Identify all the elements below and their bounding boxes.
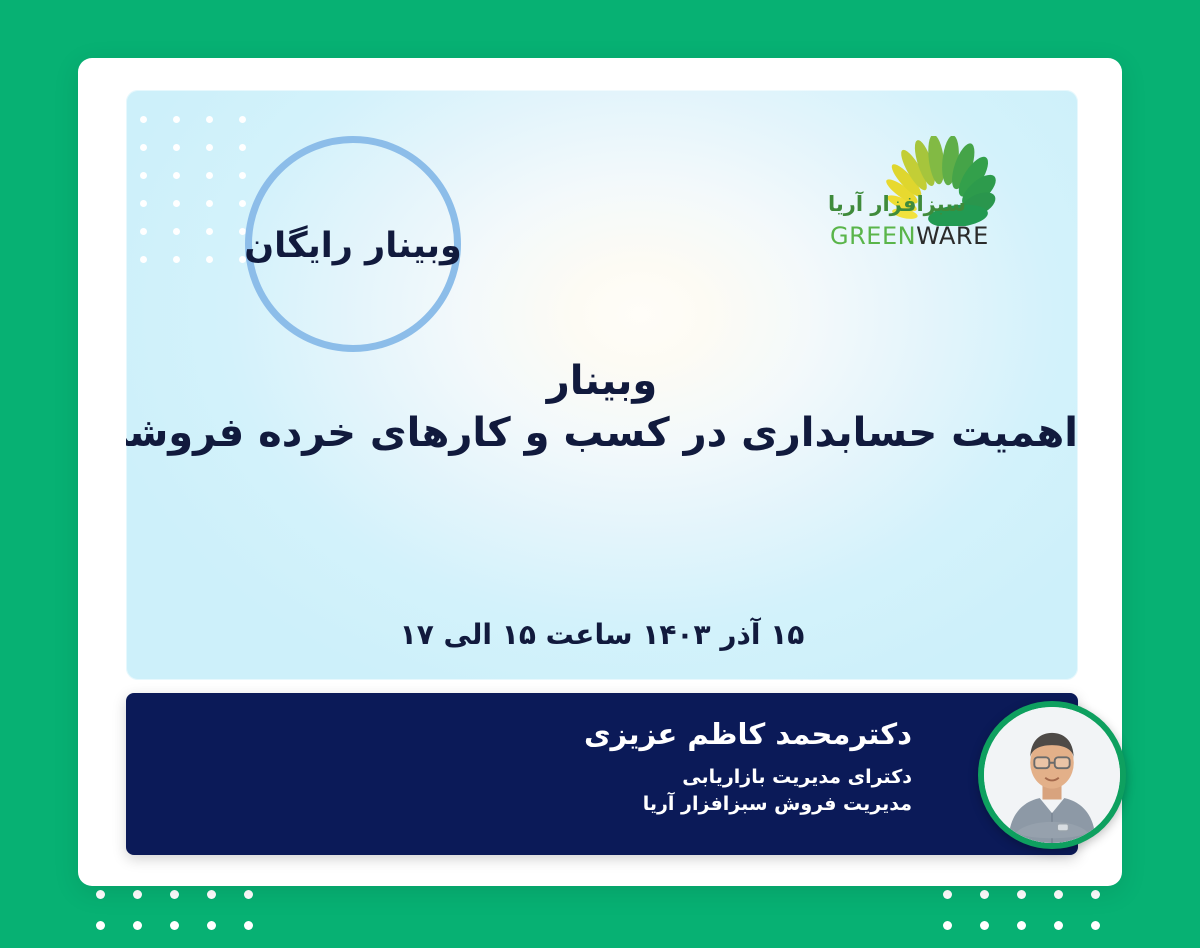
decorative-dot (173, 116, 180, 123)
decorative-dot (943, 890, 952, 899)
decorative-dot (1017, 921, 1026, 930)
decorative-dot (1091, 921, 1100, 930)
decorative-dot (1054, 921, 1063, 930)
brand-logo: سبزافزار آریا GREENWARE (824, 136, 1034, 272)
poster-card: وبینار رایگان (78, 58, 1122, 886)
poster-canvas: وبینار رایگان (0, 0, 1200, 948)
decorative-dot (943, 921, 952, 930)
brand-logo-wordmark: GREENWARE (830, 222, 989, 250)
decorative-dot (173, 144, 180, 151)
free-webinar-badge-label: وبینار رایگان (244, 226, 462, 266)
decorative-dot (206, 144, 213, 151)
speaker-name: دکترمحمد کاظم عزیزی (584, 717, 912, 752)
decorative-dot (206, 116, 213, 123)
speaker-role-line-1: دکترای مدیریت بازاریابی (584, 764, 912, 792)
decorative-dot (980, 890, 989, 899)
speaker-info: دکترمحمد کاظم عزیزی دکترای مدیریت بازاری… (584, 717, 912, 819)
decorative-dot (173, 200, 180, 207)
decorative-dot (173, 228, 180, 235)
decorative-dot (170, 921, 179, 930)
decorative-dot (207, 921, 216, 930)
brand-logo-wordmark-dark: WARE (916, 222, 989, 250)
decorative-dot (173, 172, 180, 179)
decorative-dot (1017, 890, 1026, 899)
decorative-dot (239, 116, 246, 123)
decorative-dot (207, 890, 216, 899)
headline-title: اهمیت حسابداری در کسب و کارهای خرده فروش… (126, 408, 1078, 458)
free-webinar-badge: وبینار رایگان (245, 136, 461, 352)
decorative-dot (206, 256, 213, 263)
speaker-avatar-frame (984, 707, 1120, 843)
event-datetime: ۱۵ آذر ۱۴۰۳ ساعت ۱۵ الی ۱۷ (126, 618, 1078, 651)
speaker-bar: دکترمحمد کاظم عزیزی دکترای مدیریت بازاری… (126, 693, 1078, 855)
hero-panel: وبینار رایگان (126, 90, 1078, 680)
decorative-dot (170, 890, 179, 899)
decorative-dot (239, 172, 246, 179)
decorative-dot (133, 890, 142, 899)
brand-logo-wordmark-green: GREEN (830, 222, 916, 250)
decorative-dot (1054, 890, 1063, 899)
decorative-dot (133, 921, 142, 930)
headline-block: وبینار اهمیت حسابداری در کسب و کارهای خر… (126, 358, 1078, 458)
decorative-dot (96, 890, 105, 899)
decorative-dot (140, 144, 147, 151)
decorative-dot (96, 921, 105, 930)
decorative-dot (140, 200, 147, 207)
decorative-dot (206, 172, 213, 179)
decorative-dot-grid-panel (140, 116, 246, 263)
brand-logo-persian-name: سبزافزار آریا (828, 192, 966, 216)
speaker-avatar (978, 701, 1126, 849)
decorative-dot (140, 172, 147, 179)
decorative-dot (140, 116, 147, 123)
decorative-dot (980, 921, 989, 930)
decorative-dot (239, 144, 246, 151)
decorative-dot (140, 228, 147, 235)
decorative-dot (173, 256, 180, 263)
speaker-role: دکترای مدیریت بازاریابی مدیریت فروش سبزا… (584, 764, 912, 819)
headline-kicker: وبینار (126, 358, 1078, 404)
speaker-portrait-icon (984, 707, 1120, 843)
speaker-role-line-2: مدیریت فروش سبزافزار آریا (584, 791, 912, 819)
decorative-dot (206, 200, 213, 207)
decorative-dot (206, 228, 213, 235)
decorative-dot (140, 256, 147, 263)
decorative-dot (244, 890, 253, 899)
decorative-dot (1091, 890, 1100, 899)
decorative-dot (239, 200, 246, 207)
decorative-dot (244, 921, 253, 930)
